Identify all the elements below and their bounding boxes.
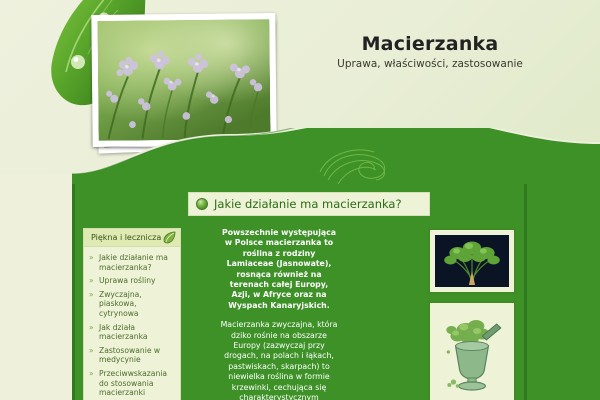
sidebar-item-label: Jak działa macierzanka [99, 323, 148, 342]
site-tagline: Uprawa, właściwości, zastosowanie [300, 58, 560, 70]
sidebar-item-5[interactable]: »Przeciwwskazania do stosowania macierza… [89, 369, 176, 400]
sidebar-item-4[interactable]: »Zastosowanie w medycynie [89, 346, 176, 369]
sidebar: Piękna i lecznicza »Jakie działanie ma m… [83, 228, 181, 400]
sidebar-item-label: Zwyczajna, piaskowa, cytrynowa [99, 290, 142, 318]
article-paragraph: Macierzanka zwyczajna, która dziko rośni… [220, 320, 338, 400]
sidebar-item-label: Jakie działanie ma macierzanka? [99, 253, 168, 272]
sidebar-item-label: Zastosowanie w medycynie [99, 346, 160, 365]
sidebar-item-label: Przeciwwskazania do stosowania macierzan… [99, 369, 167, 397]
sidebar-item-1[interactable]: »Uprawa rośliny [89, 276, 176, 290]
sidebar-item-2[interactable]: »Zwyczajna, piaskowa, cytrynowa [89, 290, 176, 323]
sidebar-menu: »Jakie działanie ma macierzanka? »Uprawa… [84, 247, 180, 400]
leaf-icon [163, 231, 176, 244]
chevron-double-right-icon: » [89, 253, 94, 263]
chevron-double-right-icon: » [89, 346, 94, 356]
chevron-double-right-icon: » [89, 323, 94, 333]
herb-bunch-thumbnail[interactable] [428, 228, 516, 294]
page-root: Macierzanka Uprawa, właściwości, zastoso… [0, 0, 600, 400]
mortar-and-pestle-thumbnail[interactable] [428, 301, 516, 400]
page-heading-bar: Jakie działanie ma macierzanka? [188, 192, 430, 216]
thumbnail-column [422, 228, 516, 400]
sidebar-widget-header: Piękna i lecznicza [84, 229, 180, 247]
flowering-thyme-photo [91, 13, 276, 147]
article-paragraph: Powszechnie występująca w Polsce macierz… [220, 228, 338, 311]
sidebar-item-3[interactable]: »Jak działa macierzanka [89, 323, 176, 346]
content-panel: Piękna i lecznicza »Jakie działanie ma m… [72, 184, 527, 400]
sidebar-item-label: Uprawa rośliny [99, 276, 156, 285]
swirl-flourish-icon [318, 146, 398, 188]
sidebar-widget: Piękna i lecznicza »Jakie działanie ma m… [83, 228, 181, 400]
sidebar-widget-title: Piękna i lecznicza [91, 233, 161, 242]
chevron-double-right-icon: » [89, 290, 94, 300]
article-body: Powszechnie występująca w Polsce macierz… [220, 228, 338, 400]
green-orb-icon [196, 198, 208, 210]
sidebar-item-0[interactable]: »Jakie działanie ma macierzanka? [89, 253, 176, 276]
site-title: Macierzanka [300, 33, 560, 55]
chevron-double-right-icon: » [89, 276, 94, 286]
main-column: Jakie działanie ma macierzanka? Powszech… [181, 228, 422, 400]
chevron-double-right-icon: » [89, 369, 94, 379]
page-title: Jakie działanie ma macierzanka? [214, 197, 402, 211]
